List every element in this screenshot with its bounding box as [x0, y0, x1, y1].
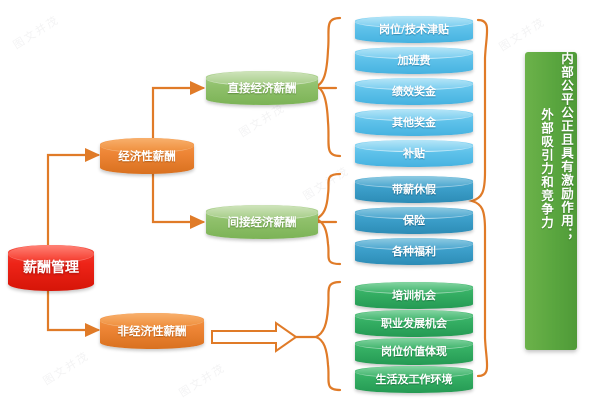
node-label: 间接经济薪酬	[225, 216, 300, 228]
leaf-indirect-1[interactable]: 带薪休假	[355, 176, 473, 203]
leaf-noneconomic-4[interactable]: 生活及工作环境	[355, 366, 473, 393]
node-label: 培训机会	[389, 290, 439, 302]
leaf-direct-4[interactable]: 其他奖金	[355, 109, 473, 136]
leaf-direct-3[interactable]: 绩效奖金	[355, 78, 473, 105]
node-noneconomic-pay[interactable]: 非经济性薪酬	[100, 313, 204, 349]
node-label: 加班费	[395, 55, 434, 67]
leaf-direct-5[interactable]: 补贴	[355, 140, 473, 167]
node-label: 非经济性薪酬	[115, 325, 190, 337]
node-label: 各种福利	[389, 246, 439, 258]
leaf-noneconomic-1[interactable]: 培训机会	[355, 282, 473, 309]
node-label: 保险	[400, 215, 428, 227]
node-label: 补贴	[400, 148, 428, 160]
leaf-noneconomic-3[interactable]: 岗位价值体现	[355, 338, 473, 365]
connector-layer	[0, 0, 600, 400]
node-label: 薪酬管理	[20, 261, 82, 276]
outcome-line-1: 内部公平公正且具有激励作用；	[558, 52, 574, 350]
node-label: 职业发展机会	[378, 318, 450, 330]
leaf-indirect-3[interactable]: 各种福利	[355, 238, 473, 265]
leaf-noneconomic-2[interactable]: 职业发展机会	[355, 310, 473, 337]
node-economic-pay[interactable]: 经济性薪酬	[100, 138, 194, 174]
outcome-panel[interactable]: 内部公平公正且具有激励作用； 外部吸引力和竞争力	[525, 52, 577, 350]
node-label: 岗位价值体现	[378, 346, 450, 358]
node-indirect-economic-pay[interactable]: 间接经济薪酬	[206, 205, 318, 239]
node-label: 直接经济薪酬	[225, 82, 300, 94]
diagram-canvas: 图文并茂 图文并茂 图文并茂 图文并茂 图文并茂 图文并茂	[0, 0, 600, 400]
node-label: 绩效奖金	[389, 86, 439, 98]
block-arrow	[212, 323, 296, 351]
node-label: 经济性薪酬	[115, 150, 179, 162]
outcome-line-2: 外部吸引力和竞争力	[538, 108, 554, 230]
node-label: 其他奖金	[389, 117, 439, 129]
node-label: 生活及工作环境	[373, 374, 456, 386]
node-root[interactable]: 薪酬管理	[8, 245, 94, 291]
node-label: 带薪休假	[389, 184, 439, 196]
leaf-indirect-2[interactable]: 保险	[355, 207, 473, 234]
leaf-direct-2[interactable]: 加班费	[355, 47, 473, 74]
leaf-direct-1[interactable]: 岗位/技术津贴	[355, 16, 473, 43]
node-direct-economic-pay[interactable]: 直接经济薪酬	[206, 71, 318, 105]
node-label: 岗位/技术津贴	[376, 24, 452, 36]
